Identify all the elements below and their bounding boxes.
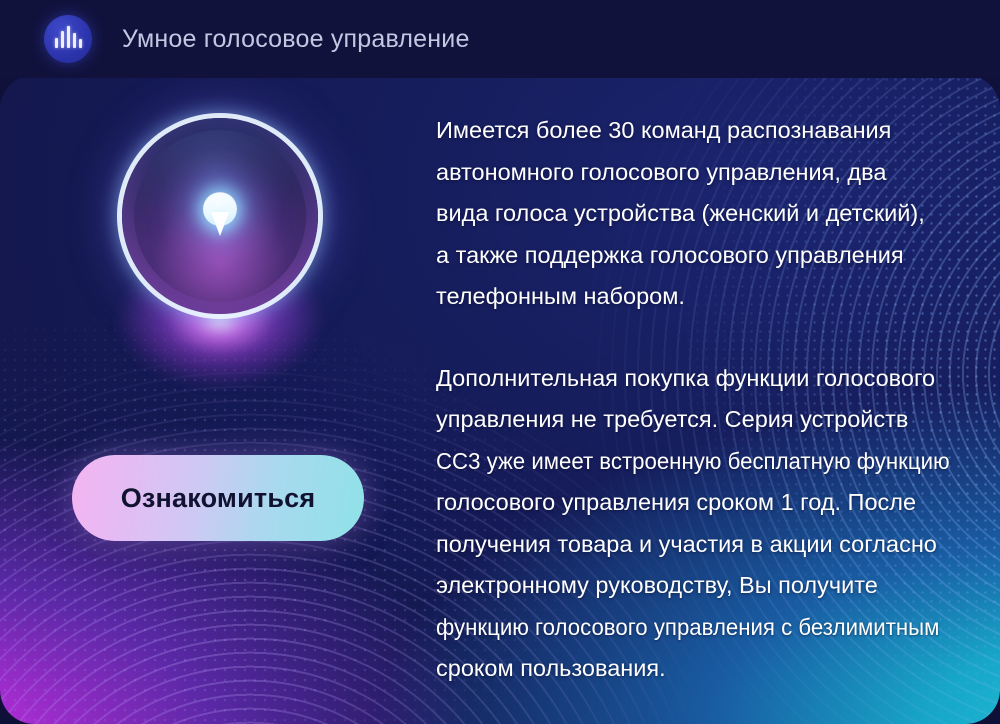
text-line: Имеется более 30 команд распознавания [436, 110, 966, 152]
text-line: вида голоса устройства (женский и детски… [436, 193, 966, 235]
banner-frame: Умное голосовое управление Ознакомиться … [0, 0, 1000, 724]
voice-waveform-icon [44, 15, 92, 63]
teardrop-pin-icon [203, 192, 237, 238]
text-line: электронному руководству, Вы получите [436, 565, 966, 607]
text-line: телефонным набором. [436, 276, 966, 318]
paragraph-purchase-terms: Дополнительная покупка функции голосовог… [436, 358, 966, 690]
text-line: голосового управления сроком 1 год. Посл… [436, 482, 966, 524]
header-bar: Умное голосовое управление [0, 0, 1000, 78]
text-line: Дополнительная покупка функции голосовог… [436, 358, 966, 400]
text-line: функцию голосового управления с безлимит… [436, 607, 937, 649]
learn-more-button[interactable]: Ознакомиться [72, 455, 364, 541]
description-text-block: Имеется более 30 команд распознавания ав… [436, 110, 966, 690]
voice-assistant-orb-icon [122, 118, 318, 314]
paragraph-features: Имеется более 30 команд распознавания ав… [436, 110, 966, 318]
text-line: CC3 уже имеет встроенную бесплатную функ… [436, 441, 937, 483]
text-line: получения товара и участия в акции согла… [436, 524, 966, 566]
text-line: а также поддержка голосового управления [436, 235, 966, 277]
page-title: Умное голосовое управление [122, 25, 470, 54]
text-line: автономного голосового управления, два [436, 152, 966, 194]
text-line: сроком пользования. [436, 648, 966, 690]
text-line: управления не требуется. Серия устройств [436, 399, 966, 441]
promo-banner: Умное голосовое управление Ознакомиться … [0, 0, 1000, 724]
